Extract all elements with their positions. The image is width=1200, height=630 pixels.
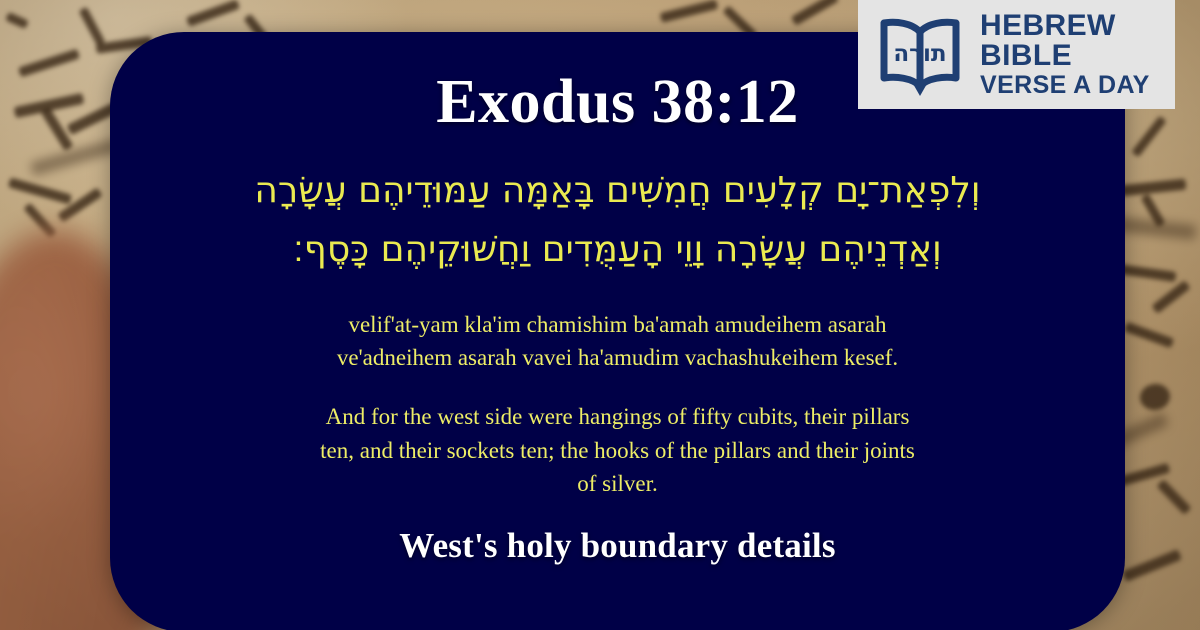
translation-line-2: ten, and their sockets ten; the hooks of… xyxy=(232,434,1003,467)
torah-hebrew-label: תורה xyxy=(893,41,946,67)
translation-line-1: And for the west side were hangings of f… xyxy=(232,400,1003,433)
verse-card: Exodus 38:12 וְלִפְאַת־יָם קְלָעִים חֲמִ… xyxy=(110,32,1125,630)
brand-line-bible: BIBLE xyxy=(980,41,1150,71)
verse-caption: West's holy boundary details xyxy=(136,526,1099,566)
transliteration-text: velif'at-yam kla'im chamishim ba'amah am… xyxy=(136,309,1099,374)
translation-line-3: of silver. xyxy=(232,467,1003,500)
translation-text: And for the west side were hangings of f… xyxy=(136,400,1099,500)
hebrew-line-2: וְאַדְנֵיהֶם עֲשָׂרָה וָוֵי הָעַמֻּדִים … xyxy=(154,221,1081,279)
hebrew-verse-text: וְלִפְאַת־יָם קְלָעִים חֲמִשִּׁים בָּאַמ… xyxy=(136,162,1099,279)
brand-line-tagline: VERSE A DAY xyxy=(980,73,1150,98)
transliteration-line-1: velif'at-yam kla'im chamishim ba'amah am… xyxy=(136,309,1099,342)
transliteration-line-2: ve'adneihem asarah vavei ha'amudim vacha… xyxy=(136,342,1099,375)
brand-line-hebrew: HEBREW xyxy=(980,11,1150,41)
hebrew-line-1: וְלִפְאַת־יָם קְלָעִים חֲמִשִּׁים בָּאַמ… xyxy=(154,162,1081,220)
brand-wordmark: HEBREW BIBLE VERSE A DAY xyxy=(980,11,1150,98)
verse-graphic: Exodus 38:12 וְלִפְאַת־יָם קְלָעִים חֲמִ… xyxy=(0,0,1200,630)
verse-card-content: Exodus 38:12 וְלִפְאַת־יָם קְלָעִים חֲמִ… xyxy=(110,32,1125,630)
brand-logo: תורה HEBREW BIBLE VERSE A DAY xyxy=(858,0,1175,109)
open-book-torah-icon: תורה xyxy=(872,12,968,98)
